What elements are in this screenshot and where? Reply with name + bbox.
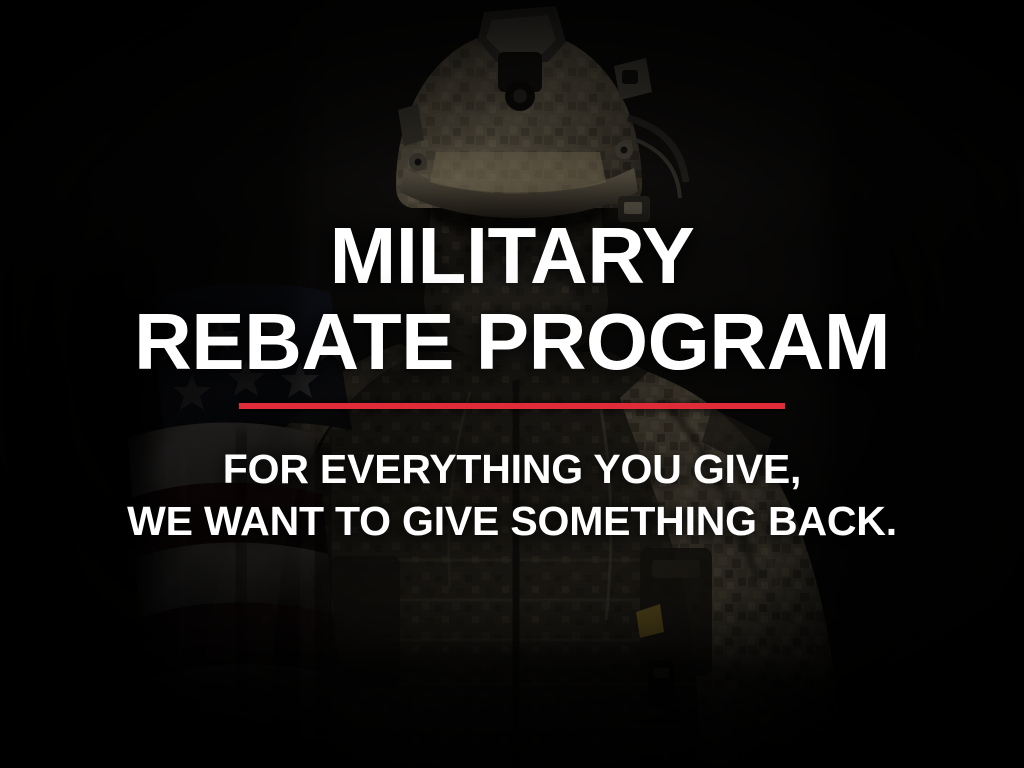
left-shadow	[0, 0, 300, 768]
background-photo-soldier	[0, 0, 1024, 768]
rail-slot	[622, 70, 638, 84]
helmet-label-patch	[624, 202, 642, 214]
soldier-scene-illustration	[0, 0, 1024, 768]
soldier-figure	[0, 0, 1024, 768]
cheek-highlight	[452, 260, 572, 332]
helmet-velcro-panel	[430, 152, 606, 193]
nvg-shroud-face	[486, 15, 556, 54]
military-rebate-poster: MILITARY REBATE PROGRAM FOR EVERYTHING Y…	[0, 0, 1024, 768]
vest-pouch-flap	[652, 560, 700, 578]
rail-screw-left-center	[415, 159, 422, 166]
nvg-pivot-center	[513, 89, 527, 103]
rail-screw-center	[621, 147, 628, 154]
right-shadow	[830, 0, 1024, 768]
